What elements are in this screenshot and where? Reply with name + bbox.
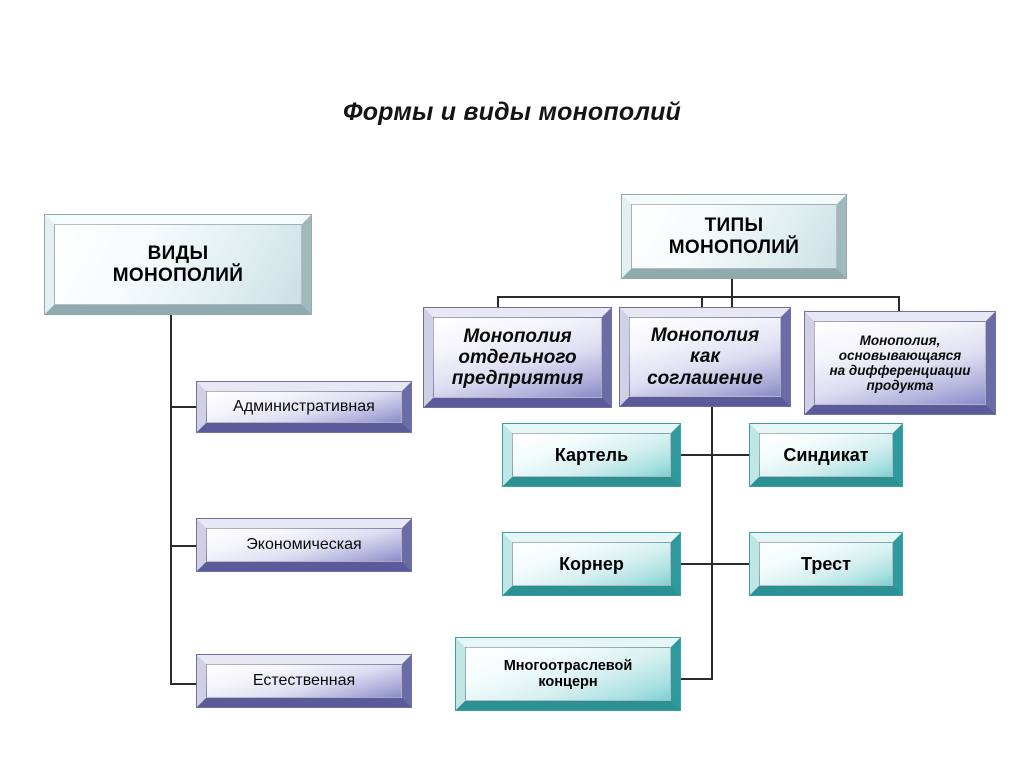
connector-row-kartel-sindikat <box>678 454 752 456</box>
connector-vidy-to-administrativnaya <box>170 406 198 408</box>
connector-soglashenie-trunk <box>711 404 713 679</box>
node-label: Естественная <box>253 672 355 690</box>
node-trest[interactable]: Трест <box>750 533 902 595</box>
node-label: Экономическая <box>246 536 361 554</box>
node-label: ТИПЫ МОНОПОЛИЙ <box>669 215 799 258</box>
node-label: Административная <box>233 398 375 416</box>
page-title: Формы и виды монополий <box>0 98 1024 127</box>
node-monopoliya-otdelnogo-predpriyatiya[interactable]: Монополия отдельного предприятия <box>424 308 611 407</box>
node-label: Монополия отдельного предприятия <box>452 326 583 390</box>
node-label: ВИДЫ МОНОПОЛИЙ <box>113 243 243 286</box>
connector-vidy-trunk <box>170 313 172 684</box>
connector-tipy-trunk <box>731 277 733 309</box>
connector-vidy-to-ekonomicheskaya <box>170 545 198 547</box>
node-kartel[interactable]: Картель <box>503 424 680 486</box>
node-estestvennaya[interactable]: Естественная <box>197 655 411 707</box>
connector-vidy-to-estestvennaya <box>170 683 198 685</box>
node-label: Картель <box>555 445 628 465</box>
node-label: Монополия как соглашение <box>647 325 763 389</box>
node-mnogootraslevoy-koncern[interactable]: Многоотраслевой концерн <box>456 638 680 710</box>
connector-row-koncern <box>678 678 713 680</box>
node-ekonomicheskaya[interactable]: Экономическая <box>197 519 411 571</box>
node-sindikat[interactable]: Синдикат <box>750 424 902 486</box>
connector-row-korner-trest <box>678 563 752 565</box>
node-label: Монополия, основывающаяся на дифференциа… <box>830 333 971 393</box>
node-monopoliya-kak-soglashenie[interactable]: Монополия как соглашение <box>620 308 790 406</box>
node-administrativnaya[interactable]: Административная <box>197 382 411 432</box>
node-vidy-monopoliy[interactable]: ВИДЫ МОНОПОЛИЙ <box>45 215 311 314</box>
node-korner[interactable]: Корнер <box>503 533 680 595</box>
diagram-canvas: Формы и виды монополий ВИДЫ МОНОПОЛИЙ ТИ… <box>0 0 1024 767</box>
node-label: Трест <box>801 554 851 574</box>
node-monopoliya-differenciacia-produkta[interactable]: Монополия, основывающаяся на дифференциа… <box>805 312 995 414</box>
node-label: Корнер <box>559 554 624 574</box>
connector-tipy-fan <box>497 296 900 298</box>
node-label: Многоотраслевой концерн <box>504 658 633 690</box>
node-label: Синдикат <box>783 445 868 465</box>
node-tipy-monopoliy[interactable]: ТИПЫ МОНОПОЛИЙ <box>622 195 846 278</box>
